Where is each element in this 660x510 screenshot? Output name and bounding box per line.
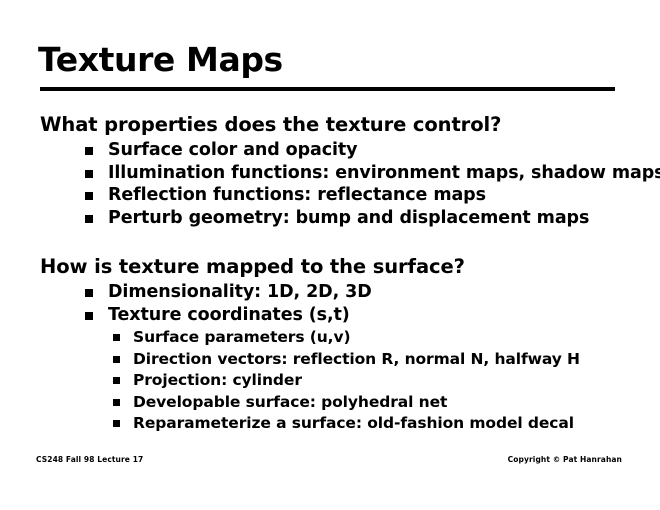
bullet-list-level3: Surface parameters (u,v) Direction vecto…	[0, 327, 660, 435]
list-item: Perturb geometry: bump and displacement …	[85, 207, 660, 230]
square-bullet-icon	[113, 399, 120, 406]
square-bullet-icon	[85, 289, 93, 297]
square-bullet-icon	[113, 377, 120, 384]
list-item: Projection: cylinder	[113, 370, 660, 392]
list-item: Dimensionality: 1D, 2D, 3D	[85, 281, 660, 304]
list-item-label: Projection: cylinder	[133, 371, 302, 389]
list-item: Developable surface: polyhedral net	[113, 392, 660, 414]
list-item-label: Reflection functions: reflectance maps	[108, 185, 486, 205]
section-texture-control: What properties does the texture control…	[0, 112, 660, 229]
square-bullet-icon	[113, 334, 120, 341]
list-item: Reparameterize a surface: old-fashion mo…	[113, 413, 660, 435]
list-item: Reflection functions: reflectance maps	[85, 184, 660, 207]
list-item-label: Surface color and opacity	[108, 140, 357, 160]
square-bullet-icon	[113, 356, 120, 363]
list-item: Direction vectors: reflection R, normal …	[113, 349, 660, 371]
list-item-label: Developable surface: polyhedral net	[133, 393, 447, 411]
list-item: Illumination functions: environment maps…	[85, 162, 660, 185]
square-bullet-icon	[85, 170, 93, 178]
list-item-label: Dimensionality: 1D, 2D, 3D	[108, 282, 372, 302]
list-item: Surface color and opacity	[85, 139, 660, 162]
square-bullet-icon	[113, 420, 120, 427]
section-texture-mapping: How is texture mapped to the surface? Di…	[0, 254, 660, 435]
slide-body: What properties does the texture control…	[0, 112, 660, 435]
bullet-list-level2: Surface color and opacity Illumination f…	[0, 139, 660, 229]
list-item-label: Perturb geometry: bump and displacement …	[108, 208, 589, 228]
slide: Texture Maps What properties does the te…	[0, 0, 660, 510]
list-item: Texture coordinates (s,t)	[85, 304, 660, 327]
section-spacer	[0, 229, 660, 254]
section-heading: How is texture mapped to the surface?	[40, 254, 660, 279]
square-bullet-icon	[85, 147, 93, 155]
list-item-label: Texture coordinates (s,t)	[108, 305, 350, 325]
footer-course-info: CS248 Fall 98 Lecture 17	[36, 455, 143, 464]
page-title: Texture Maps	[38, 41, 283, 79]
list-item-label: Illumination functions: environment maps…	[108, 163, 660, 183]
list-item: Surface parameters (u,v)	[113, 327, 660, 349]
square-bullet-icon	[85, 215, 93, 223]
square-bullet-icon	[85, 312, 93, 320]
section-heading: What properties does the texture control…	[40, 112, 660, 137]
list-item-label: Reparameterize a surface: old-fashion mo…	[133, 414, 574, 432]
bullet-list-level2: Dimensionality: 1D, 2D, 3D Texture coord…	[0, 281, 660, 326]
title-divider	[40, 87, 615, 91]
list-item-label: Surface parameters (u,v)	[133, 328, 350, 346]
list-item-label: Direction vectors: reflection R, normal …	[133, 350, 580, 368]
footer-copyright: Copyright © Pat Hanrahan	[508, 455, 622, 464]
square-bullet-icon	[85, 192, 93, 200]
